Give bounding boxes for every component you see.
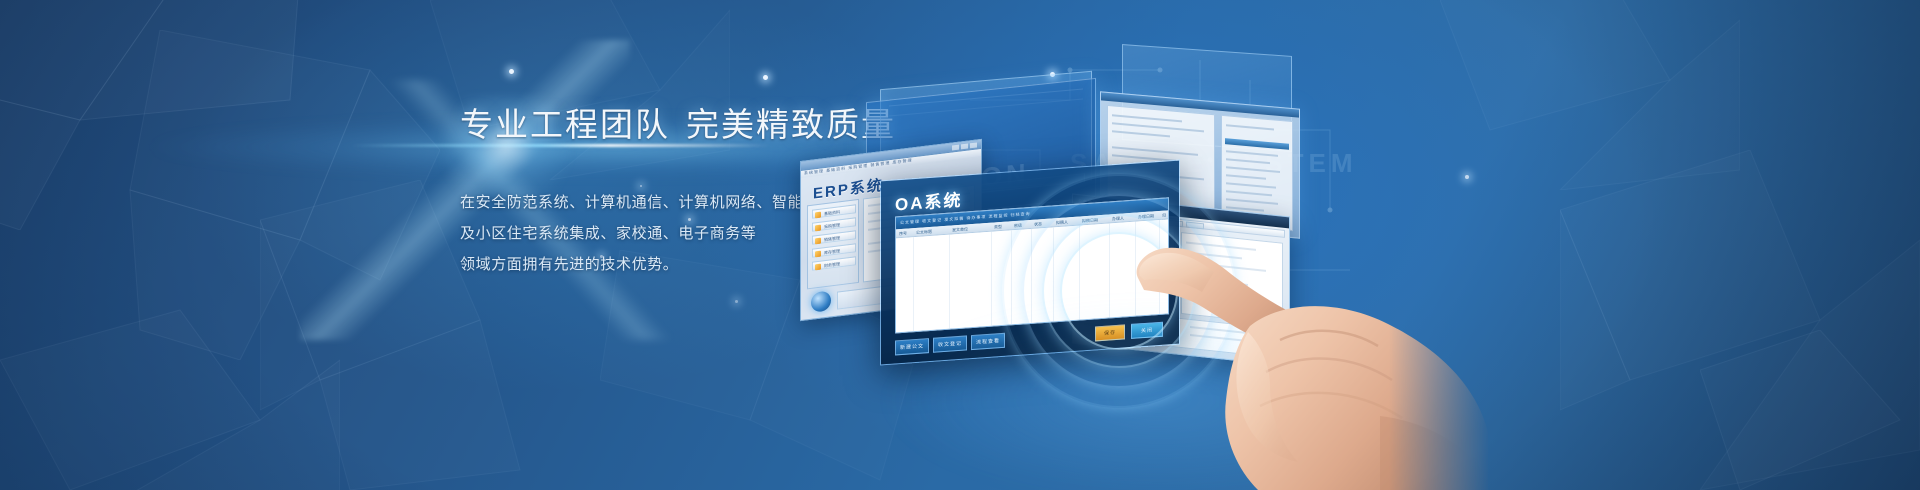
description-paragraph: 在安全防范系统、计算机通信、计算机网络、智能大厦 及小区住宅系统集成、家校通、电… (460, 188, 800, 281)
pointing-hand-icon (1130, 236, 1490, 490)
decor-dot (735, 300, 738, 303)
paragraph-line-1: 在安全防范系统、计算机通信、计算机网络、智能大厦 (460, 188, 800, 219)
erp-logo-orb (811, 290, 831, 312)
erp-sidebar[interactable]: 基础资料 采购管理 销售管理 库存管理 财务管理 (807, 199, 859, 289)
decor-dot (763, 75, 768, 80)
oa-col-header: 类型 (994, 224, 1002, 231)
oa-col-header: 序号 (899, 231, 907, 238)
erp-sidebar-item[interactable]: 库存管理 (812, 243, 856, 257)
erp-sidebar-item[interactable]: 销售管理 (812, 230, 856, 244)
oa-title: OA系统 (895, 186, 963, 216)
erp-sidebar-item[interactable]: 采购管理 (812, 217, 856, 231)
paragraph-line-3: 领域方面拥有先进的技术优势。 (460, 250, 800, 281)
paragraph-line-2: 及小区住宅系统集成、家校通、电子商务等 (460, 219, 800, 250)
erp-sidebar-item[interactable]: 基础资料 (812, 204, 856, 218)
hero-banner: 专业工程团队完美精致质量 在安全防范系统、计算机通信、计算机网络、智能大厦 及小… (0, 0, 1920, 490)
oa-col-header: 公文标题 (916, 229, 932, 236)
oa-col-header: 发文单位 (952, 226, 968, 233)
headline-part-1: 专业工程团队 (460, 108, 670, 144)
erp-sidebar-item[interactable]: 财务管理 (812, 256, 856, 270)
decor-polygon-bottomleft (0, 300, 340, 490)
